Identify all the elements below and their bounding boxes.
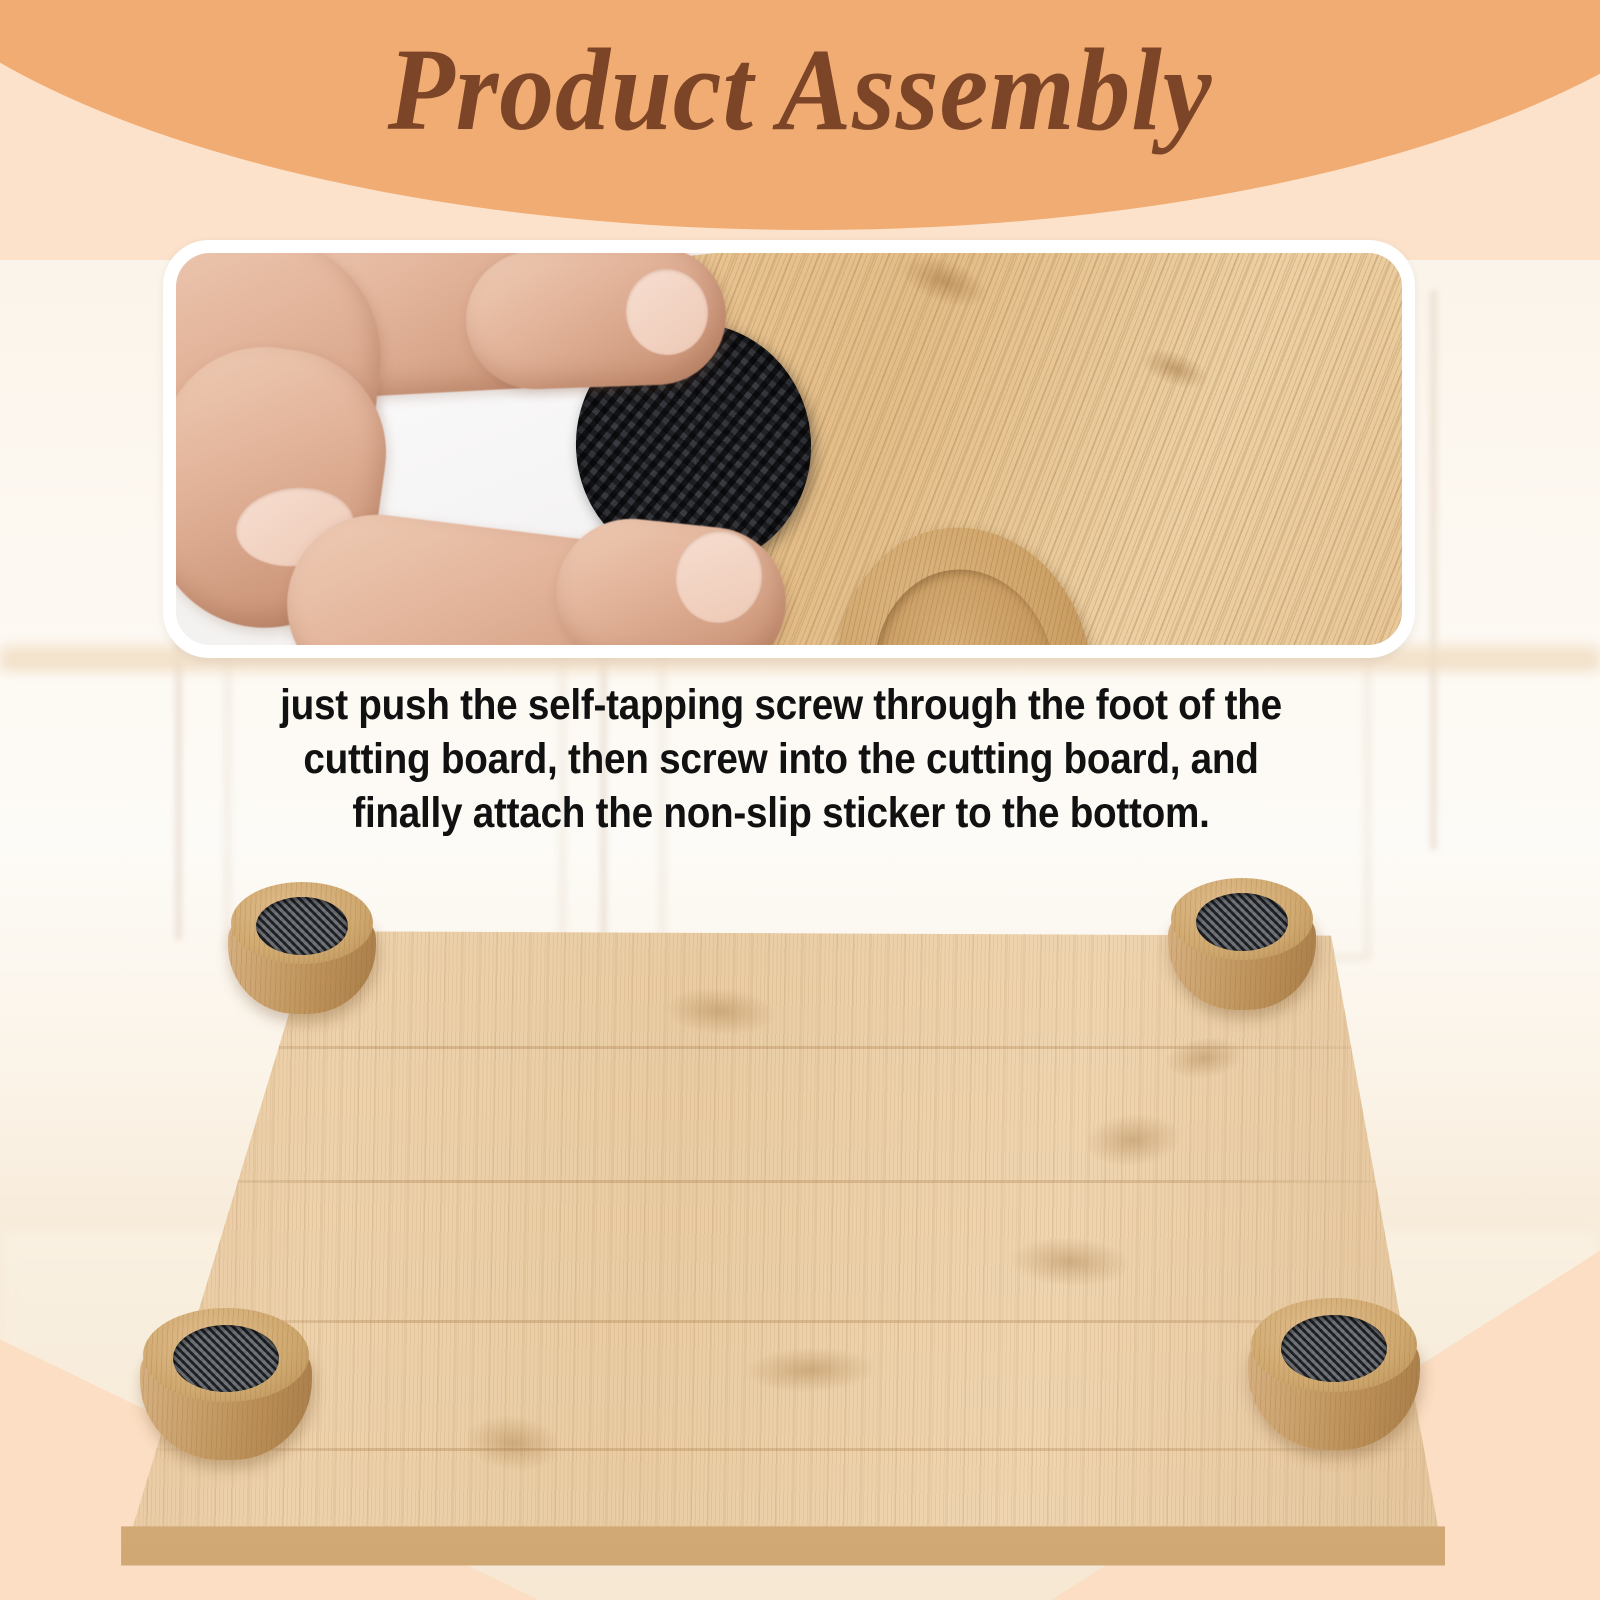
- cutting-board: [105, 928, 1445, 1568]
- assembly-instructions: just push the self-tapping screw through…: [246, 678, 1317, 841]
- board-foot-bottom-left: [140, 1308, 312, 1460]
- board-foot-bottom-right: [1248, 1298, 1420, 1450]
- board-foot-top-right: [1168, 878, 1316, 1010]
- product-assembly-infographic: Product Assembly: [0, 0, 1600, 1600]
- assembly-step-photo-card: [163, 240, 1415, 658]
- assembly-step-photo: [176, 253, 1402, 645]
- hand: [176, 253, 856, 645]
- assembled-cutting-board-photo: [0, 860, 1600, 1600]
- board-foot-top-left: [228, 882, 376, 1014]
- page-title: Product Assembly: [56, 26, 1544, 153]
